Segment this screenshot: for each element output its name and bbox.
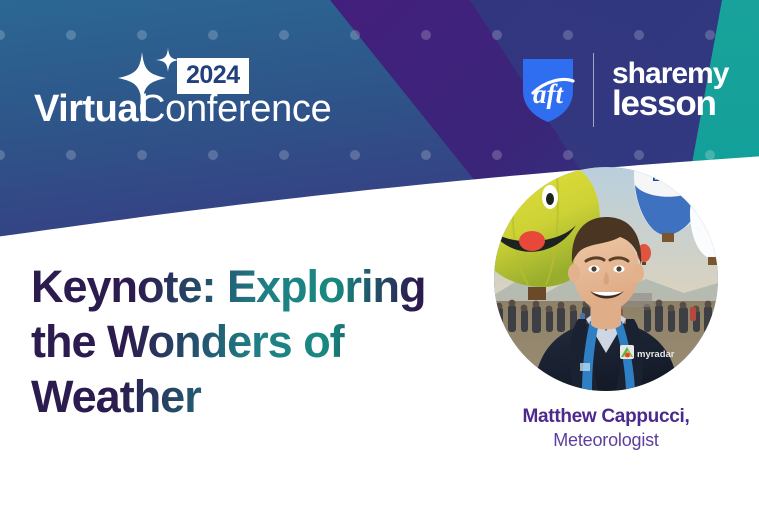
sharemylesson-brand-lockup[interactable]: aft sharemy lesson xyxy=(521,52,728,128)
myradar-logo-text: myradar xyxy=(637,349,675,360)
keynote-promo-slide: 2024 Virtual Conference aft sharemy less… xyxy=(0,0,759,513)
sharemylesson-wordmark: sharemy lesson xyxy=(612,60,728,120)
headline-line-1: Keynote: Exploring xyxy=(31,260,501,315)
speaker-avatar: Blaser xyxy=(494,167,718,391)
headline-line-2: the Wonders of xyxy=(31,315,501,370)
page-title: Keynote: Exploring the Wonders of Weathe… xyxy=(31,260,501,425)
speaker-caption: Matthew Cappucci, Meteorologist xyxy=(470,405,742,452)
speaker-name: Matthew Cappucci, xyxy=(470,405,742,429)
virtual-conference-lockup: 2024 Virtual Conference xyxy=(34,50,334,140)
speaker-role: Meteorologist xyxy=(470,429,742,452)
conference-word-virtual: Virtual xyxy=(34,90,148,128)
aft-shield-icon: aft xyxy=(521,57,575,123)
headline-line-3: Weather xyxy=(31,370,501,425)
wordmark-line-lesson: lesson xyxy=(612,88,728,120)
brand-divider xyxy=(593,53,594,127)
conference-word-conference: Conference xyxy=(138,90,331,128)
